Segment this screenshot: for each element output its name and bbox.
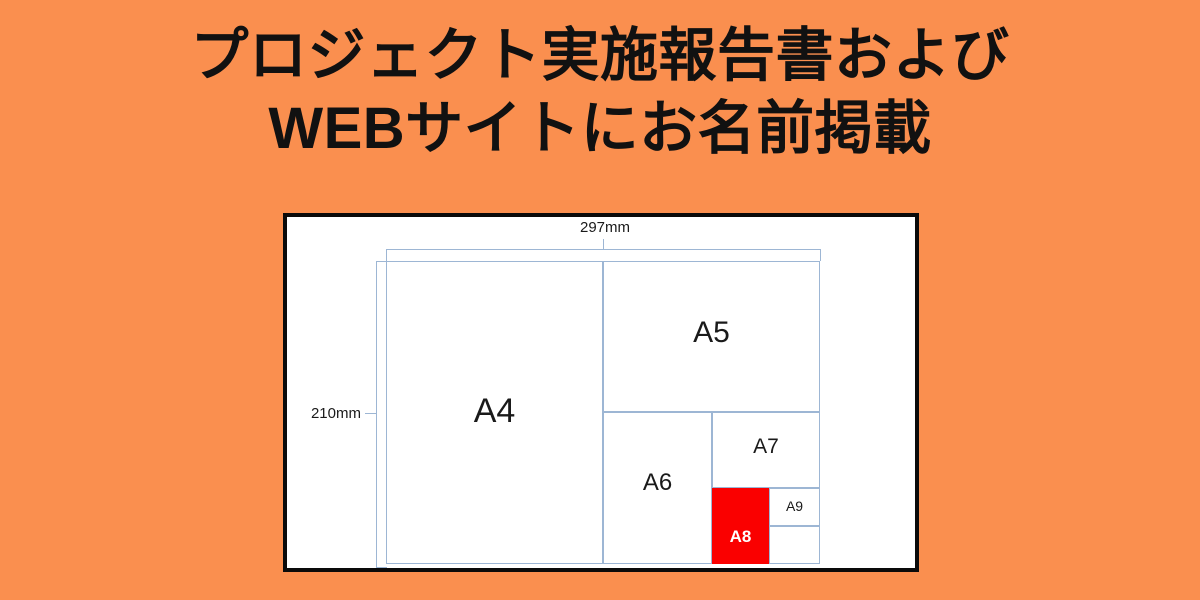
page-title: プロジェクト実施報告書および WEBサイトにお名前掲載 [0,22,1200,163]
paper-size-diagram-panel: 297mm 210mm A4 A5 A6 A7 A8 A9 [283,213,919,572]
page-title-line-2: WEBサイトにお名前掲載 [0,95,1200,162]
paper-size-a6: A6 [603,412,712,564]
width-dimension-label: 297mm [555,219,655,236]
paper-size-diagram-canvas: 297mm 210mm A4 A5 A6 A7 A8 A9 [287,217,915,568]
paper-size-a4: A4 [386,261,603,564]
paper-size-a5: A5 [603,261,820,412]
paper-size-a10 [769,526,820,564]
width-dimension-leader-line [603,239,604,250]
paper-size-a7: A7 [712,412,820,488]
paper-size-a4-label: A4 [387,392,602,431]
height-dimension-bottom-tick [376,567,387,568]
width-dimension-right-tick [820,249,821,261]
paper-size-a5-label: A5 [604,316,819,350]
paper-size-a8-highlighted: A8 [712,488,769,564]
height-dimension-label: 210mm [215,405,361,422]
page-title-line-1: プロジェクト実施報告書および [0,22,1200,89]
paper-size-a9: A9 [769,488,820,526]
width-dimension-left-tick [386,249,387,261]
paper-size-a9-label: A9 [770,498,819,514]
height-dimension-leader-line [365,413,377,414]
height-dimension-bar [376,261,377,568]
paper-size-a8-label: A8 [713,527,768,547]
paper-size-a7-label: A7 [713,435,819,459]
paper-size-a6-label: A6 [604,469,711,497]
